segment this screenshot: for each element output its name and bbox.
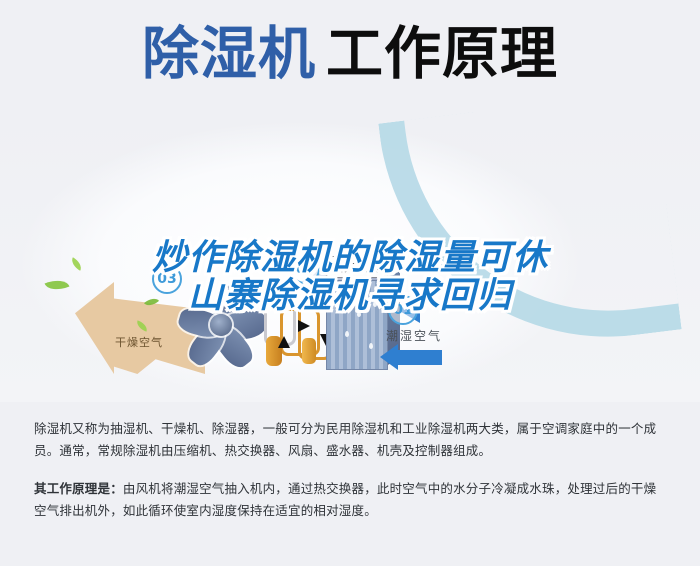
water-drop-icon — [369, 343, 373, 349]
paragraph-definition: 除湿机又称为抽湿机、干燥机、除湿器，一般可分为民用除湿机和工业除湿机两大类，属于… — [0, 418, 700, 462]
flow-arrow-right-icon — [298, 320, 310, 332]
step-badge-02: 02 — [290, 254, 320, 284]
paragraph-principle: 其工作原理是：由风机将潮湿空气抽入机内，通过热交换器，此时空气中的水分子冷凝成水… — [0, 478, 700, 522]
fan-icon — [178, 284, 274, 370]
page-title: 除湿机工作原理 — [0, 26, 700, 83]
water-drop-icon — [337, 295, 341, 301]
step-badge-01: 01 — [388, 295, 418, 325]
compressor-cylinder-icon — [302, 338, 316, 364]
water-drop-icon — [345, 331, 349, 337]
body-copy: 除湿机又称为抽湿机、干燥机、除湿器，一般可分为民用除湿机和工业除湿机两大类，属于… — [0, 418, 700, 522]
fan-hub-icon — [210, 314, 232, 336]
callout-tail — [352, 282, 362, 289]
moist-air-label: 潮湿空气 — [386, 327, 442, 344]
water-drop-icon — [357, 311, 361, 317]
paragraph-principle-text: 由风机将潮湿空气抽入机内，通过热交换器，此时空气中的水分子冷凝成水珠，处理过后的… — [34, 481, 656, 518]
working-principle-illustration: 干燥空气 — [0, 112, 700, 402]
dry-air-label: 干燥空气 — [115, 334, 163, 350]
flow-arrow-up-icon — [278, 336, 290, 348]
page-title-highlight: 除湿机 — [142, 22, 316, 86]
air-intake-arrow-icon — [398, 350, 442, 365]
page-root: 除湿机工作原理 干燥空气 — [0, 0, 700, 566]
heat-exchanger-callout: 热交换器 — [322, 256, 390, 278]
paragraph-principle-label: 其工作原理是： — [34, 481, 123, 496]
water-drop-icon — [373, 301, 377, 307]
step-badge-03: 03 — [152, 264, 182, 294]
page-title-rest: 工作原理 — [326, 22, 558, 86]
heat-exchanger-fins — [326, 280, 388, 370]
